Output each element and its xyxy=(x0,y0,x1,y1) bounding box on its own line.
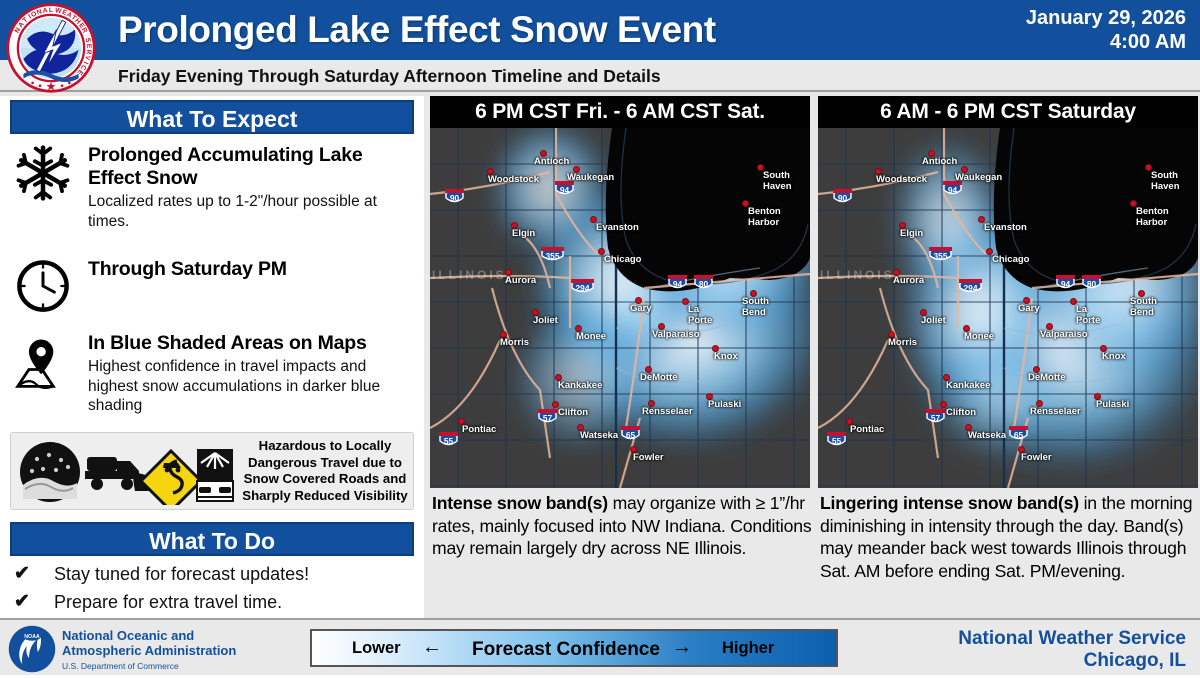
what-to-expect-heading: What To Expect xyxy=(10,100,414,134)
city-label: Pulaski xyxy=(1096,399,1129,410)
city-label: Evanston xyxy=(984,222,1027,233)
city-label: Antioch xyxy=(534,156,569,167)
interstate-shield-icon: 80 xyxy=(1081,274,1102,290)
city-label: Monee xyxy=(576,331,606,342)
city-label: Aurora xyxy=(893,275,924,286)
page-title: Prolonged Lake Effect Snow Event xyxy=(118,4,716,56)
issuing-office: National Weather Service Chicago, IL xyxy=(958,628,1186,672)
svg-text:R: R xyxy=(84,49,91,55)
snow-road-icon xyxy=(20,442,80,502)
hazard-callout: Hazardous to Locally Dangerous Travel du… xyxy=(10,432,414,510)
interstate-shield-icon: 57 xyxy=(925,408,946,424)
interstate-shield-icon: 55 xyxy=(826,431,847,447)
city-label: Gary xyxy=(630,303,652,314)
map-caption-2: Lingering intense snow band(s) in the mo… xyxy=(820,492,1200,582)
snowflake-icon xyxy=(10,144,76,207)
interstate-shield-icon: 355 xyxy=(928,246,953,262)
todo-item-label: Stay tuned for forecast updates! xyxy=(54,562,309,586)
issuance-datetime: January 29, 2026 4:00 AM xyxy=(1026,6,1186,54)
city-label: Antioch xyxy=(922,156,957,167)
expect-item-timing-head: Through Saturday PM xyxy=(88,258,414,281)
forecast-map-panel-2: 6 AM - 6 PM CST Saturday ILLINOIS9094355… xyxy=(818,96,1198,488)
city-label: LaPorte xyxy=(688,304,712,326)
todo-item-label: Prepare for extra travel time. xyxy=(54,590,282,614)
svg-text:80: 80 xyxy=(1087,279,1097,289)
clock-icon xyxy=(10,258,76,319)
interstate-shield-icon: 94 xyxy=(667,274,688,290)
forecast-map-panel-1: 6 PM CST Fri. - 6 AM CST Sat. ILLINOIS90… xyxy=(430,96,810,488)
nws-seal-logo: N A T I O N A L W E A T H E R S E R V I … xyxy=(5,2,97,94)
expect-item-area-head: In Blue Shaded Areas on Maps xyxy=(88,332,414,355)
city-label: Waukegan xyxy=(567,172,614,183)
city-label: DeMotte xyxy=(640,372,677,383)
city-label: Elgin xyxy=(900,228,923,239)
interstate-shield-icon: 294 xyxy=(570,278,595,294)
city-label: Kankakee xyxy=(946,380,990,391)
hazard-callout-text: Hazardous to Locally Dangerous Travel du… xyxy=(239,438,411,504)
city-label: Watseka xyxy=(580,430,618,441)
svg-text:55: 55 xyxy=(832,436,842,446)
svg-text:94: 94 xyxy=(948,185,958,195)
arrow-right-icon: → xyxy=(672,636,692,659)
svg-text:E: E xyxy=(85,44,92,49)
map-title-1: 6 PM CST Fri. - 6 AM CST Sat. xyxy=(430,96,810,128)
city-label: Fowler xyxy=(1021,452,1052,463)
svg-text:55: 55 xyxy=(444,436,454,446)
city-label: SouthBend xyxy=(1130,296,1157,318)
svg-text:L: L xyxy=(49,7,53,14)
city-label: BentonHarbor xyxy=(748,206,781,228)
city-label: Elgin xyxy=(512,228,535,239)
map-canvas-1[interactable]: ILLINOIS90943552949480576555AntiochWauke… xyxy=(430,128,810,488)
svg-text:90: 90 xyxy=(838,193,848,203)
state-label-illinois: ILLINOIS xyxy=(820,268,895,282)
city-label: LaPorte xyxy=(1076,304,1100,326)
expect-item-snow-sub: Localized rates up to 1-2"/hour possible… xyxy=(88,192,414,231)
city-label: Waukegan xyxy=(955,172,1002,183)
confidence-lower-label: Lower xyxy=(352,639,401,658)
expect-item-snow-head: Prolonged Accumulating Lake Effect Snow xyxy=(88,144,414,190)
expect-item-snow-text: Prolonged Accumulating Lake Effect Snow … xyxy=(88,144,414,231)
city-label: Knox xyxy=(714,351,738,362)
city-label: Kankakee xyxy=(558,380,602,391)
forecast-confidence-bar: Lower ← Forecast Confidence → Higher xyxy=(310,629,838,667)
low-visibility-icon xyxy=(197,449,233,501)
interstate-shield-icon: 57 xyxy=(537,408,558,424)
city-label: Rensselaer xyxy=(642,406,693,417)
confidence-higher-label: Higher xyxy=(722,639,774,658)
city-label: Chicago xyxy=(992,254,1029,265)
interstate-shield-icon: 94 xyxy=(1055,274,1076,290)
city-label: Monee xyxy=(964,331,994,342)
city-label: SouthHaven xyxy=(1151,170,1180,192)
city-label: Aurora xyxy=(505,275,536,286)
city-label: Chicago xyxy=(604,254,641,265)
city-label: Valparaiso xyxy=(1040,329,1088,340)
office-line-2: Chicago, IL xyxy=(958,650,1186,672)
noaa-line-2: Atmospheric Administration xyxy=(62,643,236,658)
city-label: Pulaski xyxy=(708,399,741,410)
city-label: Clifton xyxy=(558,407,588,418)
city-label: Gary xyxy=(1018,303,1040,314)
svg-text:80: 80 xyxy=(699,279,709,289)
city-label: Morris xyxy=(500,337,529,348)
city-label: SouthBend xyxy=(742,296,769,318)
map-caption-1-bold: Intense snow band(s) xyxy=(432,493,608,513)
map-pin-icon xyxy=(10,332,76,397)
issuance-date: January 29, 2026 xyxy=(1026,6,1186,30)
interstate-shield-icon: 65 xyxy=(620,425,641,441)
arrow-left-icon: ← xyxy=(422,636,442,659)
svg-text:NOAA: NOAA xyxy=(24,634,40,640)
map-caption-2-bold: Lingering intense snow band(s) xyxy=(820,493,1079,513)
svg-text:355: 355 xyxy=(934,251,948,261)
left-info-column: What To Expect xyxy=(0,96,424,618)
svg-text:65: 65 xyxy=(1014,430,1024,440)
city-label: Knox xyxy=(1102,351,1126,362)
interstate-shield-icon: 55 xyxy=(438,431,459,447)
city-label: Rensselaer xyxy=(1030,406,1081,417)
svg-text:57: 57 xyxy=(931,413,941,423)
expect-item-area-sub: Highest confidence in travel impacts and… xyxy=(88,357,414,416)
city-label: Woodstock xyxy=(876,174,927,185)
interstate-shield-icon: 80 xyxy=(693,274,714,290)
interstate-shield-icon: 90 xyxy=(832,188,853,204)
svg-text:294: 294 xyxy=(964,283,978,293)
expect-item-area-text: In Blue Shaded Areas on Maps Highest con… xyxy=(88,332,414,416)
interstate-shield-icon: 90 xyxy=(444,188,465,204)
noaa-line-3: U.S. Department of Commerce xyxy=(62,660,236,672)
map-title-2: 6 AM - 6 PM CST Saturday xyxy=(818,96,1198,128)
city-label: SouthHaven xyxy=(763,170,792,192)
svg-text:355: 355 xyxy=(546,251,560,261)
noaa-line-1: National Oceanic and xyxy=(62,628,236,643)
svg-text:65: 65 xyxy=(626,430,636,440)
city-label: BentonHarbor xyxy=(1136,206,1169,228)
todo-item: ✔ Prepare for extra travel time. xyxy=(14,590,404,616)
city-label: Joliet xyxy=(533,315,558,326)
what-to-do-heading: What To Do xyxy=(10,522,414,556)
svg-text:294: 294 xyxy=(576,283,590,293)
map-caption-1: Intense snow band(s) may organize with ≥… xyxy=(432,492,812,560)
city-label: Joliet xyxy=(921,315,946,326)
noaa-agency-text: National Oceanic and Atmospheric Adminis… xyxy=(62,628,236,672)
interstate-shield-icon: 294 xyxy=(958,278,983,294)
city-label: Watseka xyxy=(968,430,1006,441)
city-label: Fowler xyxy=(633,452,664,463)
map-canvas-2[interactable]: ILLINOIS90943552949480576555AntiochWauke… xyxy=(818,128,1198,488)
office-line-1: National Weather Service xyxy=(958,628,1186,650)
hazard-icon-row xyxy=(19,439,234,505)
check-icon: ✔ xyxy=(14,590,30,614)
slippery-road-sign-icon xyxy=(141,451,201,505)
city-label: Valparaiso xyxy=(652,329,700,340)
svg-text:94: 94 xyxy=(1061,279,1071,289)
confidence-middle-label: Forecast Confidence xyxy=(472,639,660,661)
city-label: Clifton xyxy=(946,407,976,418)
footer-bar: NOAA National Oceanic and Atmospheric Ad… xyxy=(0,618,1200,675)
todo-item: ✔ Stay tuned for forecast updates! xyxy=(14,562,404,588)
svg-text:57: 57 xyxy=(543,413,553,423)
interstate-shield-icon: 65 xyxy=(1008,425,1029,441)
svg-text:94: 94 xyxy=(673,279,683,289)
city-label: Evanston xyxy=(596,222,639,233)
check-icon: ✔ xyxy=(14,562,30,586)
svg-text:90: 90 xyxy=(450,193,460,203)
city-label: DeMotte xyxy=(1028,372,1065,383)
city-label: Pontiac xyxy=(850,424,884,435)
city-label: Pontiac xyxy=(462,424,496,435)
interstate-shield-icon: 355 xyxy=(540,246,565,262)
svg-text:94: 94 xyxy=(560,185,570,195)
state-label-illinois: ILLINOIS xyxy=(432,268,507,282)
page-subtitle: Friday Evening Through Saturday Afternoo… xyxy=(118,62,661,90)
city-label: Morris xyxy=(888,337,917,348)
city-label: Woodstock xyxy=(488,174,539,185)
expect-item-timing-text: Through Saturday PM xyxy=(88,258,414,281)
noaa-logo-icon: NOAA xyxy=(8,625,56,673)
issuance-time: 4:00 AM xyxy=(1026,30,1186,54)
